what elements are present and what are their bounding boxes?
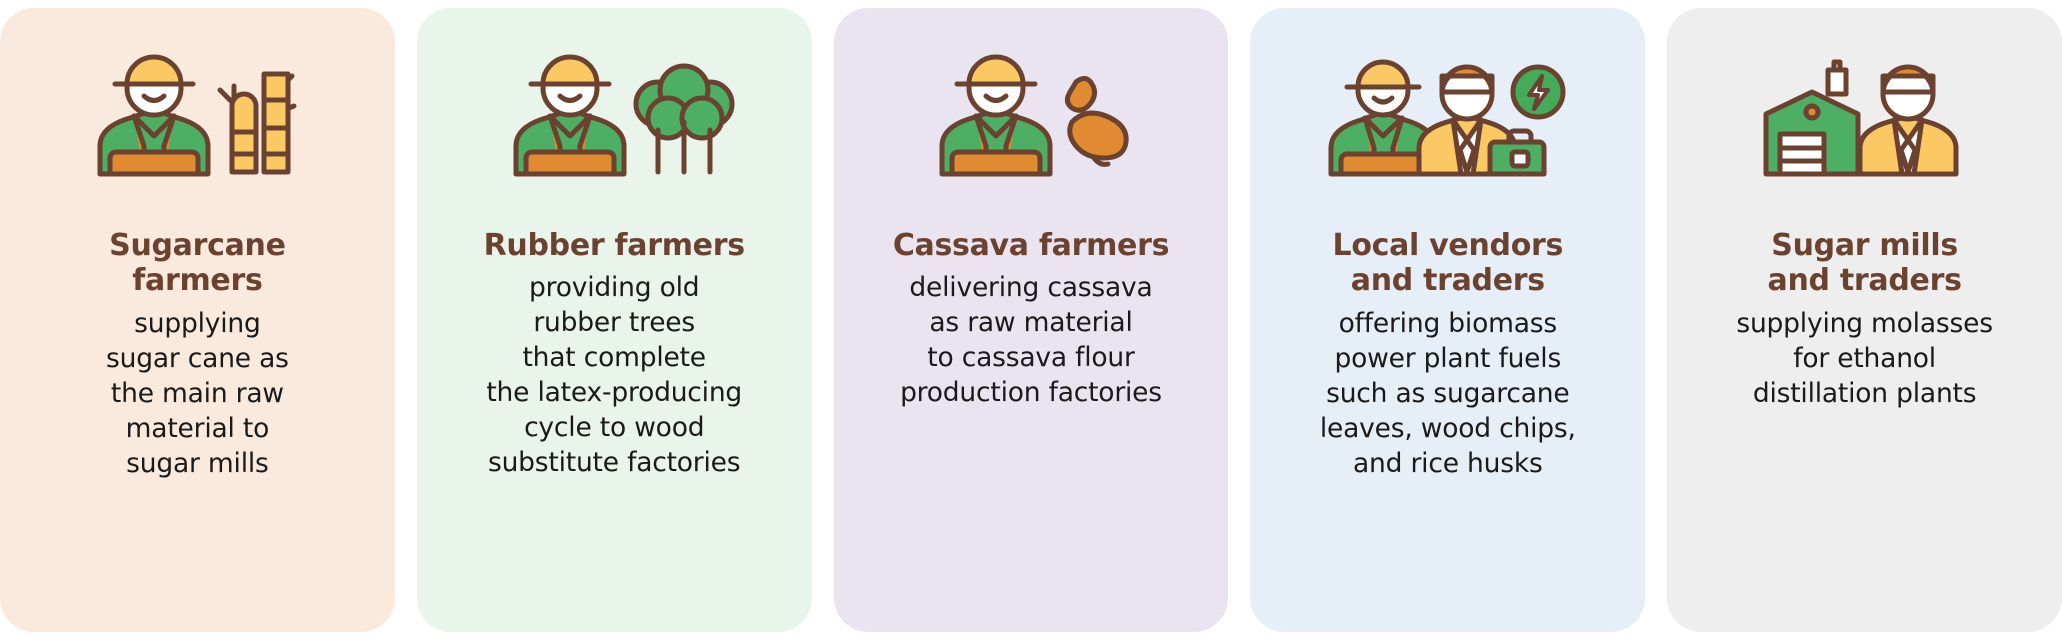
card-title: Local vendors and traders bbox=[1333, 228, 1564, 299]
card-title: Sugarcane farmers bbox=[109, 228, 286, 299]
farmer-with-sugarcane-icon bbox=[82, 60, 312, 180]
card-title: Sugar mills and traders bbox=[1768, 228, 1962, 299]
farmer-with-rubber-trees-icon bbox=[498, 60, 730, 180]
stakeholder-card-row: Sugarcane farmers supplying sugar cane a… bbox=[0, 0, 2062, 642]
card-description: offering biomass power plant fuels such … bbox=[1320, 307, 1576, 482]
card-description: providing old rubber trees that complete… bbox=[486, 271, 742, 481]
card-title: Cassava farmers bbox=[893, 228, 1169, 263]
farmer-with-cassava-icon bbox=[924, 60, 1138, 180]
card-title: Rubber farmers bbox=[484, 228, 745, 263]
card-description: supplying sugar cane as the main raw mat… bbox=[106, 307, 289, 482]
card-description: supplying molasses for ethanol distillat… bbox=[1736, 307, 1992, 412]
card-sugarcane-farmers[interactable]: Sugarcane farmers supplying sugar cane a… bbox=[0, 8, 395, 632]
farmer-and-trader-with-energy-badge-icon bbox=[1323, 60, 1573, 180]
card-description: delivering cassava as raw material to ca… bbox=[900, 271, 1162, 411]
card-cassava-farmers[interactable]: Cassava farmers delivering cassava as ra… bbox=[834, 8, 1229, 632]
card-local-vendors-and-traders[interactable]: Local vendors and traders offering bioma… bbox=[1250, 8, 1645, 632]
factory-and-trader-icon bbox=[1756, 60, 1974, 180]
card-sugar-mills-and-traders[interactable]: Sugar mills and traders supplying molass… bbox=[1667, 8, 2062, 632]
card-rubber-farmers[interactable]: Rubber farmers providing old rubber tree… bbox=[417, 8, 812, 632]
